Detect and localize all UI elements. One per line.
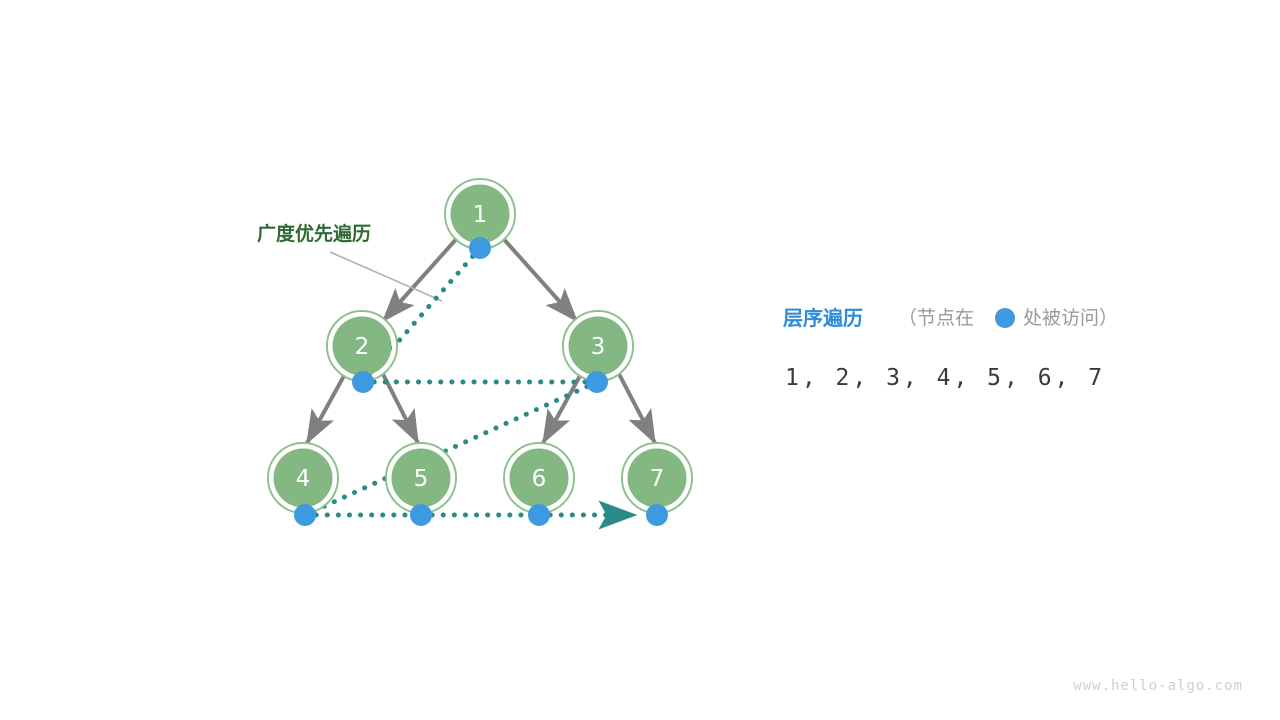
bfs-annotation-label: 广度优先遍历 [257, 222, 371, 245]
visit-dot-node-6[interactable] [528, 504, 550, 526]
watermark: www.hello-algo.com [1073, 678, 1243, 694]
legend-heading: 层序遍历 [783, 306, 863, 330]
legend-panel: 层序遍历 （节点在 处被访问） [783, 306, 1118, 330]
visit-dot-node-5[interactable] [410, 504, 432, 526]
node-label: 2 [355, 334, 370, 360]
tree-node-7[interactable]: 7 [622, 443, 692, 513]
tree-node-6[interactable]: 6 [504, 443, 574, 513]
visit-dot-node-4[interactable] [294, 504, 316, 526]
visit-dot-node-7[interactable] [646, 504, 668, 526]
visit-dot-node-2[interactable] [352, 371, 374, 393]
visit-dot-node-1[interactable] [469, 237, 491, 259]
node-label: 6 [532, 466, 547, 492]
node-label: 5 [414, 466, 429, 492]
node-label: 3 [591, 334, 606, 360]
diagram-canvas: 广度优先遍历 1 2 3 [0, 0, 1280, 720]
legend-visit-dot-icon [995, 308, 1015, 328]
tree-node-5[interactable]: 5 [386, 443, 456, 513]
tree-node-3[interactable]: 3 [563, 311, 633, 381]
background [0, 0, 1280, 720]
visit-dot-node-3[interactable] [586, 371, 608, 393]
node-label: 4 [296, 466, 311, 492]
node-label: 7 [650, 466, 665, 492]
legend-note-suffix: 处被访问） [1023, 307, 1118, 329]
tree-node-2[interactable]: 2 [327, 311, 397, 381]
tree-node-4[interactable]: 4 [268, 443, 338, 513]
traversal-sequence: 1, 2, 3, 4, 5, 6, 7 [785, 365, 1105, 391]
legend-note-prefix: （节点在 [898, 307, 974, 329]
node-label: 1 [473, 202, 488, 228]
